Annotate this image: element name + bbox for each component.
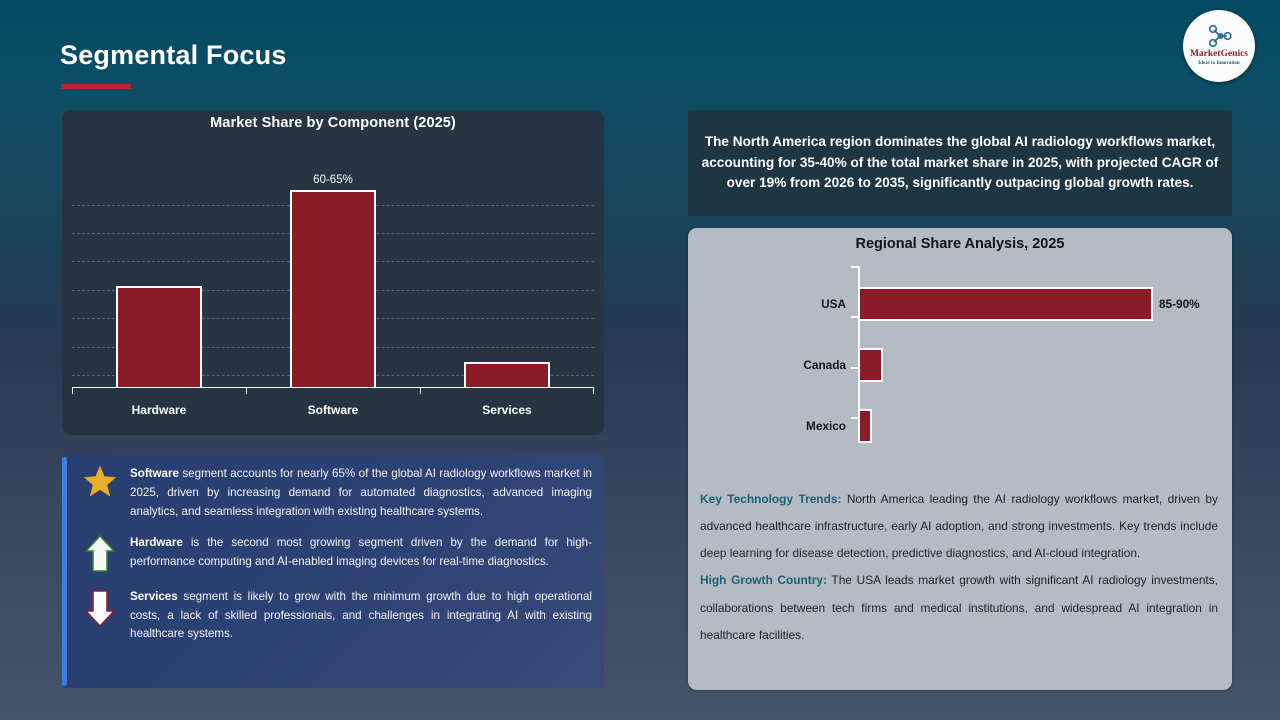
bullet-lead-hardware: Hardware xyxy=(130,536,183,549)
list-item: Hardware is the second most growing segm… xyxy=(62,534,604,574)
regional-bars: USA 85-90% Canada Mexico xyxy=(688,266,1232,466)
region-summary-box: The North America region dominates the g… xyxy=(688,110,1232,216)
regional-bar-mexico xyxy=(858,409,872,443)
regional-chart-title: Regional Share Analysis, 2025 xyxy=(688,228,1232,252)
axis-tick xyxy=(593,387,594,394)
logo-name: MarketGenics xyxy=(1190,50,1248,60)
bullet-text-services: Services segment is likely to grow with … xyxy=(130,588,592,645)
bar-hardware xyxy=(116,286,202,387)
paragraph-lead-high-growth-country: High Growth Country: xyxy=(700,573,827,587)
title-underline-rule xyxy=(61,84,131,89)
category-label-services: Services xyxy=(420,403,594,417)
regional-value-usa: 85-90% xyxy=(1159,297,1200,311)
segment-insights-panel: Software segment accounts for nearly 65%… xyxy=(62,455,604,688)
list-item: Mexico xyxy=(688,405,1232,447)
list-item: Canada xyxy=(688,344,1232,386)
bar-column-software: 60-65% xyxy=(246,150,420,387)
bullet-lead-software: Software xyxy=(130,467,179,480)
bullet-lead-services: Services xyxy=(130,590,178,603)
paragraph-high-growth-country: High Growth Country: The USA leads marke… xyxy=(700,567,1218,648)
axis-tick xyxy=(420,387,421,394)
bullet-body-hardware: is the second most growing segment drive… xyxy=(130,536,592,568)
bullet-text-software: Software segment accounts for nearly 65%… xyxy=(130,465,592,522)
list-item: Services segment is likely to grow with … xyxy=(62,588,604,645)
regional-insight-texts: Key Technology Trends: North America lea… xyxy=(700,486,1218,649)
regional-label-usa: USA xyxy=(688,297,858,311)
page-title: Segmental Focus xyxy=(60,40,287,71)
bar-column-hardware xyxy=(72,150,246,387)
paragraph-key-technology-trends: Key Technology Trends: North America lea… xyxy=(700,486,1218,567)
market-share-chart-card: Market Share by Component (2025) 60-65% xyxy=(62,110,604,435)
regional-bar-usa xyxy=(858,287,1153,321)
bullet-text-hardware: Hardware is the second most growing segm… xyxy=(130,534,592,572)
list-item: Software segment accounts for nearly 65%… xyxy=(62,465,604,522)
market-share-x-axis xyxy=(72,387,594,388)
bullet-body-services: segment is likely to grow with the minim… xyxy=(130,590,592,641)
bullet-body-software: segment accounts for nearly 65% of the g… xyxy=(130,467,592,518)
regional-label-canada: Canada xyxy=(688,358,858,372)
regional-analysis-panel: Regional Share Analysis, 2025 USA 85-90%… xyxy=(688,228,1232,690)
market-share-chart-title: Market Share by Component (2025) xyxy=(62,110,604,131)
star-icon xyxy=(80,465,120,498)
arrow-down-icon xyxy=(80,588,120,628)
regional-bar-canada xyxy=(858,348,883,382)
market-share-bars: 60-65% xyxy=(72,150,594,387)
list-item: USA 85-90% xyxy=(688,283,1232,325)
molecule-network-icon xyxy=(1206,25,1232,50)
axis-tick xyxy=(246,387,247,394)
logo-tagline: Ideas to Innovation xyxy=(1198,61,1239,67)
market-share-category-labels: Hardware Software Services xyxy=(72,403,594,417)
bar-software xyxy=(290,190,376,387)
bar-services xyxy=(464,362,550,387)
panel-accent-bar xyxy=(62,457,67,686)
arrow-up-icon xyxy=(80,534,120,574)
category-label-hardware: Hardware xyxy=(72,403,246,417)
paragraph-lead-key-technology-trends: Key Technology Trends: xyxy=(700,492,841,506)
market-share-plot-area: 60-65% xyxy=(72,150,594,387)
bar-value-software: 60-65% xyxy=(313,174,353,186)
brand-logo: MarketGenics Ideas to Innovation xyxy=(1183,10,1255,82)
region-summary-text: The North America region dominates the g… xyxy=(700,132,1220,194)
bar-column-services xyxy=(420,150,594,387)
regional-label-mexico: Mexico xyxy=(688,419,858,433)
axis-tick xyxy=(72,387,73,394)
category-label-software: Software xyxy=(246,403,420,417)
